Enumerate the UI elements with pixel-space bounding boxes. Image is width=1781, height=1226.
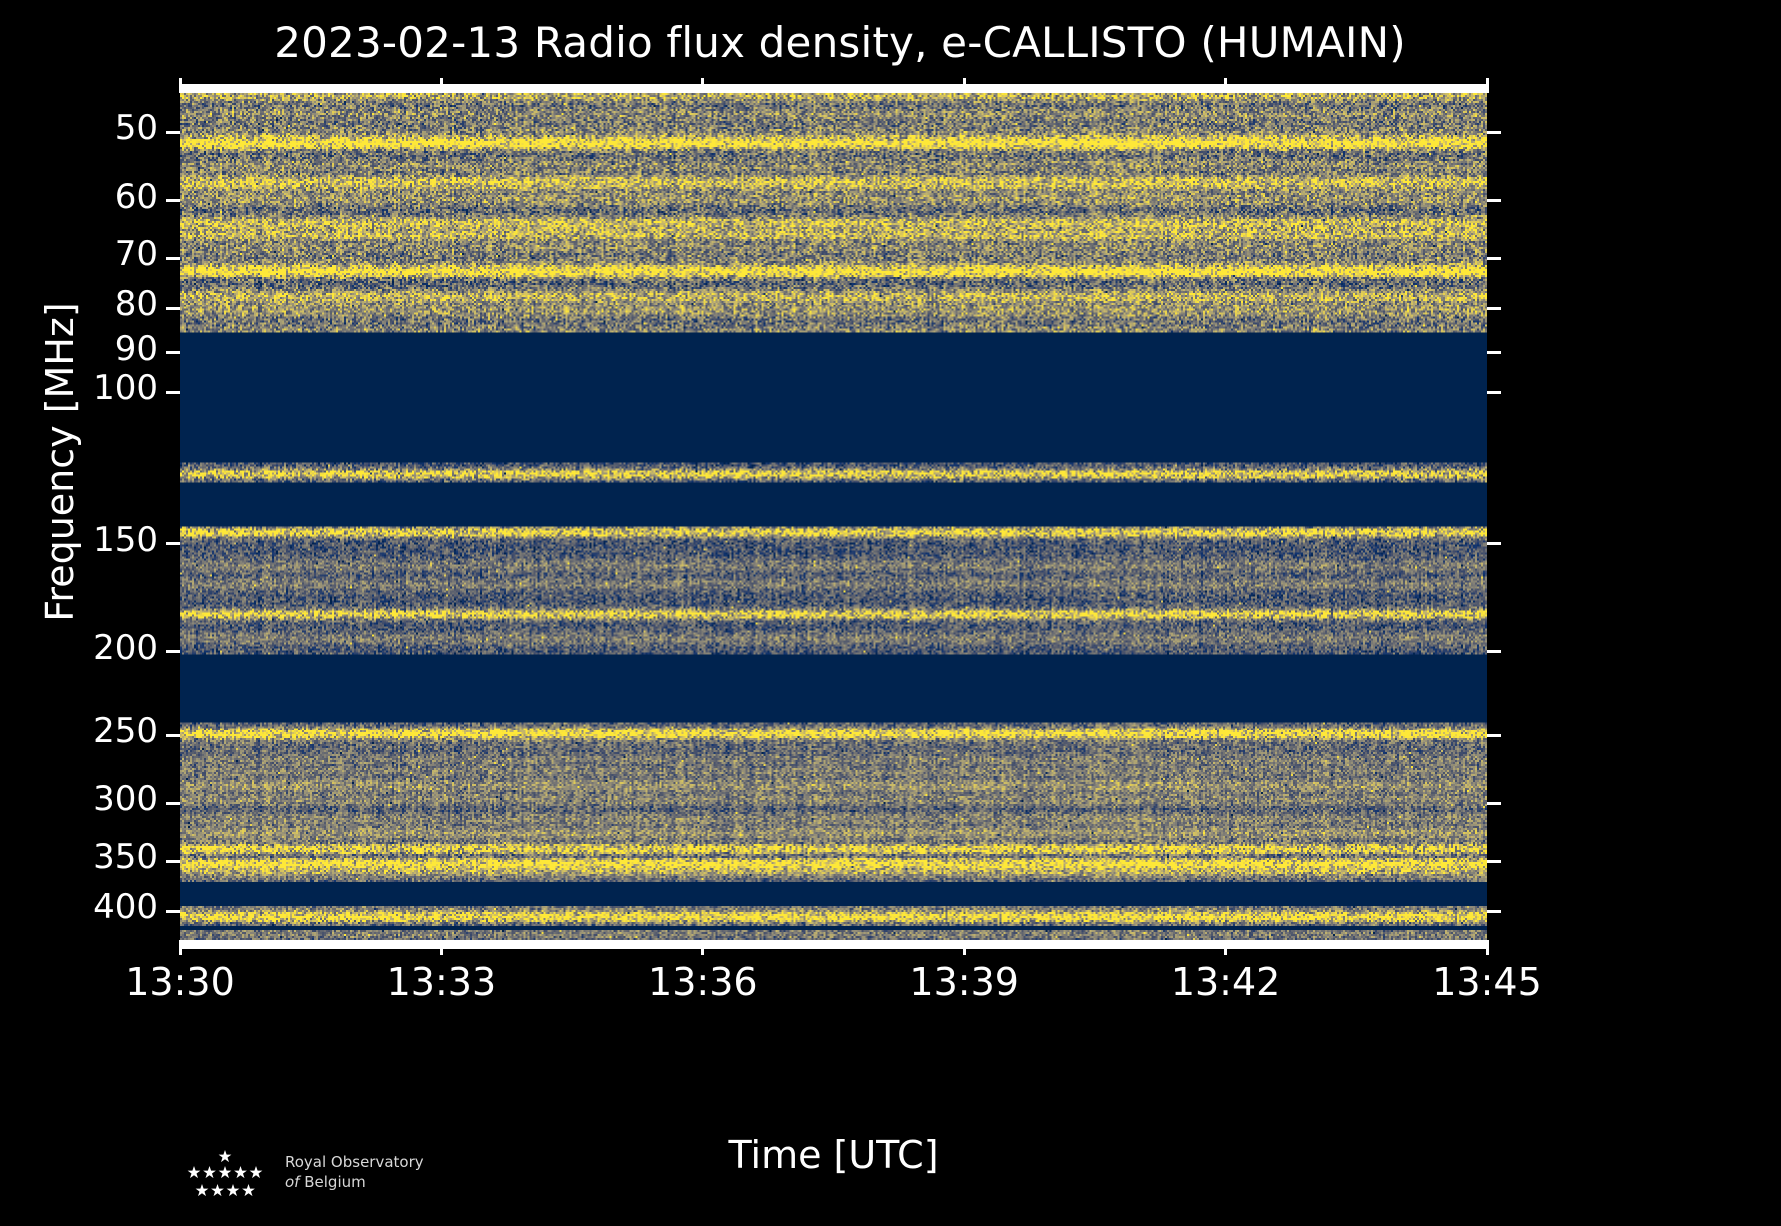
y-tick-mark [166,734,180,737]
y-tick-mark-right [1487,351,1501,354]
logo-org-line2: of Belgium [285,1172,424,1192]
y-tick-mark [166,391,180,394]
y-tick-label: 300 [0,779,158,819]
logo-country: Belgium [304,1173,366,1191]
y-tick-mark [166,257,180,260]
y-tick-label: 100 [0,368,158,408]
y-tick-mark-right [1487,257,1501,260]
y-tick-label: 70 [0,234,158,274]
y-tick-mark [166,351,180,354]
y-tick-mark-right [1487,542,1501,545]
y-tick-mark [166,199,180,202]
figure-canvas: 2023-02-13 Radio flux density, e-CALLIST… [0,0,1781,1226]
x-tick-mark-major [1486,940,1489,955]
y-tick-label: 350 [0,837,158,877]
page-title: 2023-02-13 Radio flux density, e-CALLIST… [0,18,1680,67]
y-tick-mark-right [1487,307,1501,310]
y-tick-mark-right [1487,391,1501,394]
spectrogram-image [180,93,1487,940]
y-tick-mark-right [1487,802,1501,805]
x-tick-label: 13:33 [331,960,551,1004]
y-tick-label: 200 [0,628,158,668]
y-tick-mark [166,802,180,805]
y-tick-mark [166,910,180,913]
y-tick-mark-right [1487,734,1501,737]
eu-stars-icon [175,1148,275,1204]
y-tick-label: 90 [0,329,158,369]
x-tick-label: 13:36 [593,960,813,1004]
logo-org-line1: Royal Observatory [285,1152,424,1172]
y-tick-label: 400 [0,887,158,927]
y-tick-mark [166,860,180,863]
y-tick-mark [166,650,180,653]
spectrogram-plot-area [180,93,1487,940]
logo-text: Royal Observatory of Belgium [285,1152,424,1192]
y-tick-mark-right [1487,860,1501,863]
royal-observatory-logo: Royal Observatory of Belgium [175,1148,515,1212]
y-tick-mark-right [1487,650,1501,653]
y-tick-label: 250 [0,711,158,751]
y-tick-mark [166,307,180,310]
y-tick-mark-right [1487,910,1501,913]
x-tick-label: 13:39 [854,960,1074,1004]
y-tick-mark [166,542,180,545]
y-tick-label: 80 [0,284,158,324]
x-tick-label: 13:42 [1116,960,1336,1004]
x-tick-label: 13:45 [1377,960,1597,1004]
y-tick-mark-right [1487,131,1501,134]
y-tick-label: 150 [0,520,158,560]
y-tick-mark [166,131,180,134]
logo-of-word: of [285,1173,299,1191]
y-tick-label: 50 [0,108,158,148]
x-tick-label: 13:30 [70,960,290,1004]
y-tick-label: 60 [0,177,158,217]
x-tick-mark-top-major [1486,78,1489,93]
y-tick-mark-right [1487,199,1501,202]
